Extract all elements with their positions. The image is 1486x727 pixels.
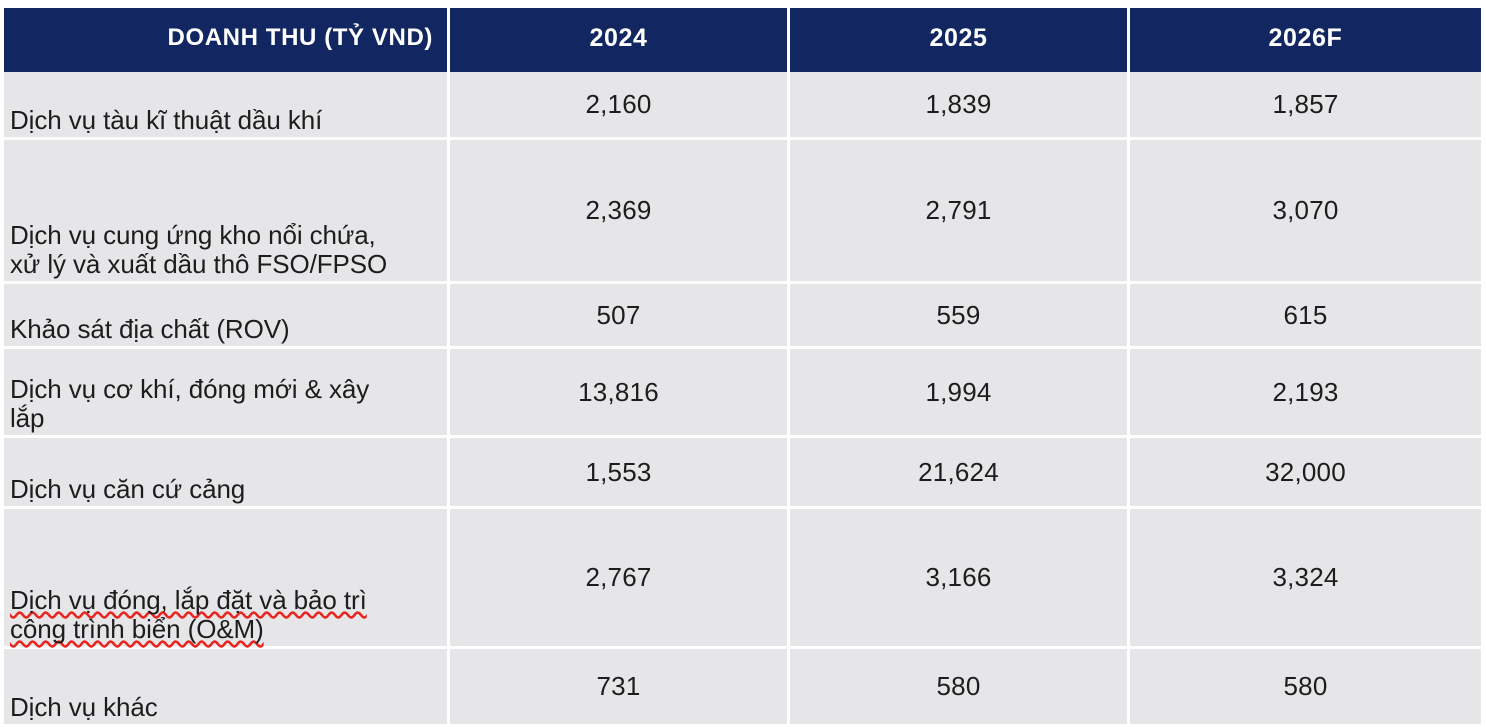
header-row: DOANH THU (TỶ VND) 2024 2025 2026F bbox=[4, 8, 1481, 72]
table-row: Khảo sát địa chất (ROV) 507 559 615 bbox=[4, 284, 1481, 349]
row-label: Dịch vụ cung ứng kho nổi chứa, xử lý và … bbox=[4, 140, 450, 284]
row-label: Dịch vụ đóng, lắp đặt và bảo trì công tr… bbox=[4, 509, 450, 649]
row-label-line-1: Dịch vụ căn cứ cảng bbox=[10, 475, 439, 504]
row-label: Dịch vụ khác bbox=[4, 649, 450, 727]
cell-2026f: 1,857 bbox=[1130, 72, 1481, 140]
cell-2025: 559 bbox=[790, 284, 1130, 349]
cell-2025: 580 bbox=[790, 649, 1130, 727]
row-label-line-1: Dịch vụ đóng, lắp đặt và bảo trì bbox=[10, 586, 439, 615]
table-row: Dịch vụ cung ứng kho nổi chứa, xử lý và … bbox=[4, 140, 1481, 284]
table-row: Dịch vụ căn cứ cảng 1,553 21,624 32,000 bbox=[4, 438, 1481, 509]
header-label-column: DOANH THU (TỶ VND) bbox=[4, 8, 450, 72]
cell-2024: 507 bbox=[450, 284, 790, 349]
row-label-line-2: xử lý và xuất dầu thô FSO/FPSO bbox=[10, 250, 439, 279]
cell-2024: 2,767 bbox=[450, 509, 790, 649]
row-label-line-1: Dịch vụ tàu kĩ thuật dầu khí bbox=[10, 106, 439, 135]
cell-2026f: 3,324 bbox=[1130, 509, 1481, 649]
table-header: DOANH THU (TỶ VND) 2024 2025 2026F bbox=[4, 8, 1481, 72]
row-label: Dịch vụ tàu kĩ thuật dầu khí bbox=[4, 72, 450, 140]
table-row: Dịch vụ khác 731 580 580 bbox=[4, 649, 1481, 727]
cell-2026f: 2,193 bbox=[1130, 349, 1481, 438]
table-row: Dịch vụ đóng, lắp đặt và bảo trì công tr… bbox=[4, 509, 1481, 649]
cell-2024: 2,160 bbox=[450, 72, 790, 140]
revenue-table-sheet: DOANH THU (TỶ VND) 2024 2025 2026F Dịch … bbox=[0, 0, 1486, 724]
cell-2025: 1,839 bbox=[790, 72, 1130, 140]
table-row: Dịch vụ tàu kĩ thuật dầu khí 2,160 1,839… bbox=[4, 72, 1481, 140]
cell-2025: 3,166 bbox=[790, 509, 1130, 649]
table-body: Dịch vụ tàu kĩ thuật dầu khí 2,160 1,839… bbox=[4, 72, 1481, 727]
cell-2026f: 3,070 bbox=[1130, 140, 1481, 284]
row-label-line-1: Dịch vụ cơ khí, đóng mới & xây bbox=[10, 375, 439, 404]
cell-2026f: 615 bbox=[1130, 284, 1481, 349]
row-label-line-1: Dịch vụ khác bbox=[10, 693, 439, 722]
cell-2025: 21,624 bbox=[790, 438, 1130, 509]
table-row: Dịch vụ cơ khí, đóng mới & xây lắp 13,81… bbox=[4, 349, 1481, 438]
row-label-line-2: lắp bbox=[10, 404, 439, 433]
cell-2026f: 580 bbox=[1130, 649, 1481, 727]
cell-2024: 13,816 bbox=[450, 349, 790, 438]
header-year-2024: 2024 bbox=[450, 8, 790, 72]
revenue-table: DOANH THU (TỶ VND) 2024 2025 2026F Dịch … bbox=[4, 8, 1481, 727]
header-year-2026f: 2026F bbox=[1130, 8, 1481, 72]
cell-2024: 1,553 bbox=[450, 438, 790, 509]
cell-2024: 731 bbox=[450, 649, 790, 727]
row-label: Khảo sát địa chất (ROV) bbox=[4, 284, 450, 349]
row-label-line-1: Dịch vụ cung ứng kho nổi chứa, bbox=[10, 221, 439, 250]
row-label: Dịch vụ căn cứ cảng bbox=[4, 438, 450, 509]
cell-2024: 2,369 bbox=[450, 140, 790, 284]
row-label-line-1: Khảo sát địa chất (ROV) bbox=[10, 315, 439, 344]
header-year-2025: 2025 bbox=[790, 8, 1130, 72]
cell-2025: 2,791 bbox=[790, 140, 1130, 284]
cell-2025: 1,994 bbox=[790, 349, 1130, 438]
row-label: Dịch vụ cơ khí, đóng mới & xây lắp bbox=[4, 349, 450, 438]
row-label-line-2: công trình biển (O&M) bbox=[10, 615, 439, 644]
cell-2026f: 32,000 bbox=[1130, 438, 1481, 509]
